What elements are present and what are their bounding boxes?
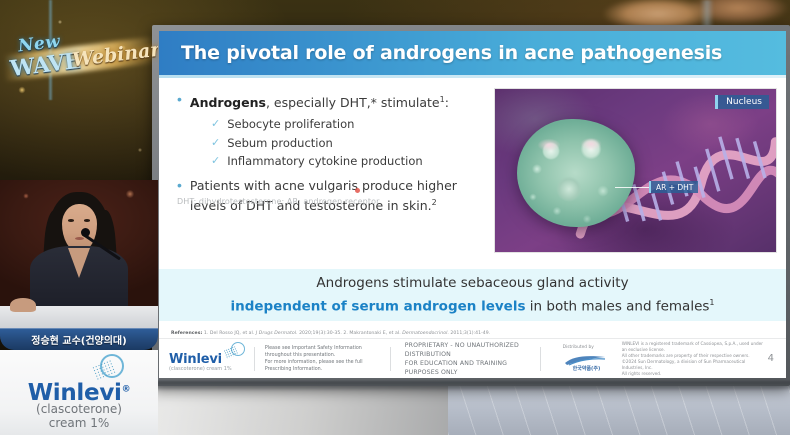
- legal-notice: WINLEVI is a registered trademark of Cas…: [622, 341, 768, 377]
- safety-information-note: Please see Important Safety Information …: [265, 345, 380, 373]
- check-icon: ✓: [211, 136, 220, 151]
- list-item: ✓ Inflammatory cytokine production: [211, 154, 495, 169]
- bullet-1-text: Androgens, especially DHT,* stimulate1:: [190, 91, 449, 111]
- page-title: The pivotal role of androgens in acne pa…: [181, 42, 722, 64]
- checklist: ✓ Sebocyte proliferation ✓ Sebum product…: [211, 117, 495, 169]
- product-generic: (clascoterone): [0, 402, 158, 416]
- distributor-block: Distributed by 한국약품(주): [557, 343, 622, 375]
- list-item: ✓ Sebocyte proliferation: [211, 117, 495, 132]
- takeaway-sup: 1: [709, 298, 714, 307]
- ar-label-leader-line: [615, 187, 649, 188]
- bullet-item-2: • Patients with acne vulgaris produce hi…: [177, 177, 495, 214]
- presenter-panel: New WAVE Webinar 정승현 교수(건양의대): [0, 0, 158, 435]
- webinar-logo: New WAVE Webinar: [0, 0, 158, 105]
- safety-line-2: For more information, please see the ful…: [265, 359, 380, 373]
- legal-line-3: ©2024 Sun Dermatology, a division of Sun…: [622, 359, 768, 371]
- footer-divider: [540, 347, 541, 371]
- backdrop-book-decor: [598, 0, 790, 28]
- presenter-video: [0, 180, 158, 328]
- references-text-1: 1. Del Rosso JQ, et al.: [202, 331, 256, 336]
- distributor-name: 한국약품(주): [573, 365, 601, 372]
- takeaway-line-1: Androgens stimulate sebaceous gland acti…: [316, 274, 628, 293]
- nucleus-illustration: AR + DHT Nucleus: [494, 88, 777, 253]
- presenter-eye-left: [68, 219, 74, 222]
- bullet-item-1: • Androgens, especially DHT,* stimulate1…: [177, 91, 495, 111]
- bullet-2-sup: 2: [432, 198, 437, 207]
- footer-divider: [254, 347, 255, 371]
- bullet-dot-icon: •: [177, 177, 182, 194]
- references-italic-1: J Drugs Dermatol: [256, 331, 296, 336]
- proprietary-line-2: FOR EDUCATION AND TRAINING PURPOSES ONLY: [405, 359, 530, 377]
- floor-right-surface: [448, 385, 790, 435]
- product-strength: cream 1%: [0, 416, 158, 430]
- presenter-name-bar: 정승현 교수(건양의대): [0, 328, 158, 350]
- bullet-1-lead: Androgens: [190, 95, 266, 110]
- legal-line-2: All other trademarks are property of the…: [622, 353, 768, 359]
- bullet-2-text: Patients with acne vulgaris produce high…: [190, 177, 495, 214]
- references-italic-2: Dermatoendocrinol: [402, 331, 447, 336]
- webinar-stream-frame: The pivotal role of androgens in acne pa…: [0, 0, 790, 435]
- bullet-dot-icon: •: [177, 91, 182, 108]
- checklist-label: Sebum production: [227, 136, 333, 151]
- presenter-face: [62, 204, 97, 251]
- takeaway-line-2: independent of serum androgen levels in …: [230, 293, 714, 317]
- legal-line-4: All rights reserved.: [622, 371, 768, 377]
- key-takeaway-banner: Androgens stimulate sebaceous gland acti…: [159, 269, 786, 321]
- takeaway-tail: in both males and females: [525, 298, 709, 314]
- proprietary-notice: PROPRIETARY - NO UNAUTHORIZED DISTRIBUTI…: [405, 341, 530, 377]
- screen-base-shadow: [152, 381, 790, 390]
- references-text-3: . 2011;3(1):41-49.: [447, 331, 490, 336]
- bullet-2-rest: Patients with acne vulgaris produce high…: [190, 178, 457, 213]
- bullet-1-tail: :: [445, 95, 449, 110]
- references-line: References: 1. Del Rosso JQ, et al. J Dr…: [171, 331, 767, 336]
- check-icon: ✓: [211, 117, 220, 132]
- ar-dht-label: AR + DHT: [649, 181, 698, 193]
- presenter-name-label: 정승현 교수(건양의대): [31, 332, 126, 347]
- registered-mark: ®: [122, 384, 131, 394]
- slide-title-bar: The pivotal role of androgens in acne pa…: [159, 31, 786, 75]
- presentation-screen: The pivotal role of androgens in acne pa…: [152, 25, 790, 386]
- footer-brand-sub: (clascoterone) cream 1%: [169, 366, 232, 372]
- footer-brand-name: Winlevi: [169, 352, 222, 367]
- list-item: ✓ Sebum production: [211, 136, 495, 151]
- androgen-receptor-protein: [517, 119, 635, 227]
- status-badge: Nucleus: [715, 95, 769, 109]
- presenter-mouth: [75, 237, 84, 240]
- slide: The pivotal role of androgens in acne pa…: [159, 31, 786, 378]
- footer-brand-logo: Winlevi (clascoterone) cream 1%: [169, 340, 244, 378]
- screen-surface: The pivotal role of androgens in acne pa…: [159, 31, 786, 378]
- checklist-label: Inflammatory cytokine production: [227, 154, 422, 169]
- references-label: References:: [171, 331, 202, 336]
- page-number: 4: [768, 353, 774, 364]
- abbreviation-note: DHT: dihydrotestosterone; AR: androgen r…: [177, 197, 380, 206]
- takeaway-emphasis: independent of serum androgen levels: [230, 298, 525, 314]
- legal-line-1: WINLEVI is a registered trademark of Cas…: [622, 341, 768, 353]
- product-brand-block: Winlevi® (clascoterone) cream 1%: [0, 350, 158, 435]
- footer-divider: [390, 347, 391, 371]
- presenter-eye-right: [84, 219, 90, 222]
- protein-highlight-detail: [517, 119, 635, 227]
- distributed-by-label: Distributed by: [563, 345, 594, 350]
- check-icon: ✓: [211, 154, 220, 169]
- laser-pointer-dot: [355, 188, 360, 193]
- checklist-label: Sebocyte proliferation: [227, 117, 354, 132]
- winlevi-mark-icon: [225, 342, 245, 360]
- references-text-2: . 2020;19(3):30-35. 2. Makrantonaki E, e…: [296, 331, 402, 336]
- proprietary-line-1: PROPRIETARY - NO UNAUTHORIZED DISTRIBUTI…: [405, 341, 530, 359]
- bullet-1-rest: , especially DHT,* stimulate: [266, 95, 440, 110]
- title-underline: [159, 75, 786, 78]
- microphone-icon: [81, 228, 90, 237]
- presenter-hand: [10, 298, 36, 312]
- safety-line-1: Please see Important Safety Information …: [265, 345, 380, 359]
- slide-footer: Winlevi (clascoterone) cream 1% Please s…: [159, 338, 786, 378]
